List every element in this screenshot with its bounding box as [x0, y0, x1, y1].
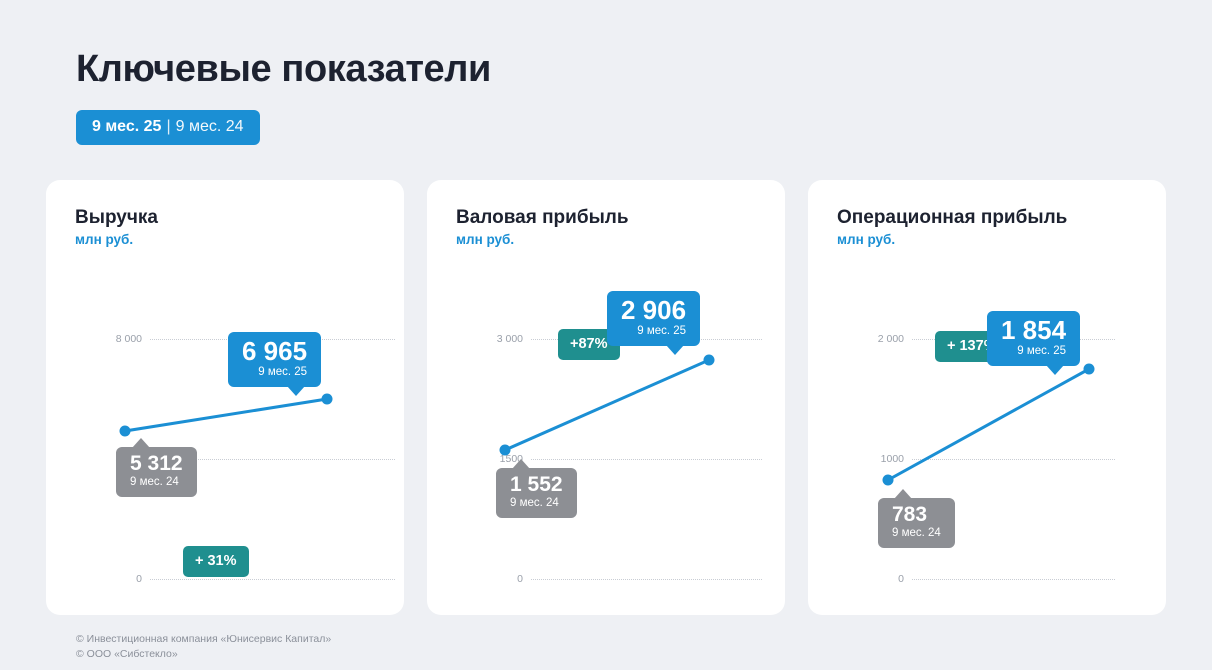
kpi-card-operating-profit[interactable]: Операционная прибыль млн руб. 2 000 1000… — [808, 180, 1166, 615]
value-current: 1 854 — [1001, 317, 1066, 344]
growth-badge: + 31% — [183, 546, 249, 577]
value-previous-period: 9 мес. 24 — [892, 527, 941, 541]
callout-tail-icon — [512, 459, 530, 469]
chart-plot-area: 8 000 4 000 0 + 31% 6 965 9 мес. 25 5 31… — [46, 180, 404, 615]
footer-line-2: © ООО «Сибстекло» — [76, 647, 331, 662]
value-current: 2 906 — [621, 297, 686, 324]
period-separator: | — [161, 118, 175, 136]
value-current: 6 965 — [242, 338, 307, 365]
kpi-card-row: Выручка млн руб. 8 000 4 000 0 + 31% 6 9… — [46, 180, 1166, 615]
value-previous: 5 312 — [130, 453, 183, 475]
callout-tail-icon — [666, 345, 684, 355]
page-title: Ключевые показатели — [76, 48, 491, 91]
period-previous-label: 9 мес. 24 — [176, 118, 244, 136]
value-badge-previous: 5 312 9 мес. 24 — [116, 447, 197, 497]
value-previous: 783 — [892, 504, 941, 526]
value-current-period: 9 мес. 25 — [1001, 345, 1066, 359]
chart-plot-area: 3 000 1500 0 +87% 2 906 9 мес. 25 1 552 … — [427, 180, 785, 615]
footer-line-1: © Инвестиционная компания «Юнисервис Кап… — [76, 632, 331, 647]
value-previous-period: 9 мес. 24 — [130, 476, 183, 490]
period-current-label: 9 мес. 25 — [92, 118, 161, 136]
callout-tail-icon — [132, 438, 150, 448]
value-current-period: 9 мес. 25 — [242, 366, 307, 380]
footer-credits: © Инвестиционная компания «Юнисервис Кап… — [76, 632, 331, 662]
callout-tail-icon — [894, 489, 912, 499]
value-previous-period: 9 мес. 24 — [510, 497, 563, 511]
period-toggle-badge[interactable]: 9 мес. 25 | 9 мес. 24 — [76, 110, 260, 145]
kpi-card-revenue[interactable]: Выручка млн руб. 8 000 4 000 0 + 31% 6 9… — [46, 180, 404, 615]
callout-tail-icon — [1046, 365, 1064, 375]
chart-plot-area: 2 000 1000 0 + 137% 1 854 9 мес. 25 783 … — [808, 180, 1166, 615]
kpi-card-gross-profit[interactable]: Валовая прибыль млн руб. 3 000 1500 0 +8… — [427, 180, 785, 615]
slide-root: Ключевые показатели 9 мес. 25 | 9 мес. 2… — [0, 0, 1212, 670]
value-previous: 1 552 — [510, 474, 563, 496]
chart-line-series — [808, 180, 1166, 615]
value-badge-previous: 783 9 мес. 24 — [878, 498, 955, 548]
value-badge-current: 2 906 9 мес. 25 — [607, 291, 700, 346]
value-badge-previous: 1 552 9 мес. 24 — [496, 468, 577, 518]
chart-line-series — [427, 180, 785, 615]
value-badge-current: 1 854 9 мес. 25 — [987, 311, 1080, 366]
callout-tail-icon — [287, 386, 305, 396]
value-badge-current: 6 965 9 мес. 25 — [228, 332, 321, 387]
value-current-period: 9 мес. 25 — [621, 325, 686, 339]
